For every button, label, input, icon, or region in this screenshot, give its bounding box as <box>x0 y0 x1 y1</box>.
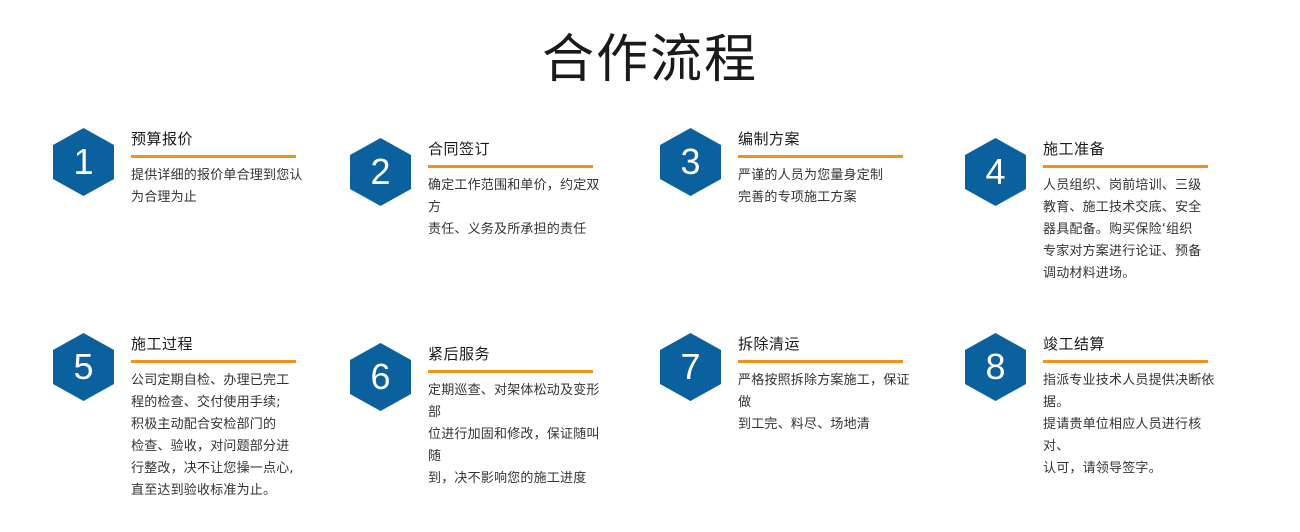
step-number-3: 3 <box>660 128 721 196</box>
step-title-8: 竣工结算 <box>1043 334 1220 356</box>
step-number-6: 6 <box>350 343 411 411</box>
step-card-3[interactable]: 3 编制方案 严谨的人员为您量身定制 完善的专项施工方案 <box>610 128 915 209</box>
step-divider-6 <box>428 370 593 373</box>
step-body-2: 合同签订 确定工作范围和单价，约定双方 责任、义务及所承担的责任 <box>428 138 610 241</box>
step-description-2: 确定工作范围和单价，约定双方 责任、义务及所承担的责任 <box>428 175 610 241</box>
step-body-8: 竣工结算 指派专业技术人员提供决断依据。 提请贵单位相应人员进行核对、 认可，请… <box>1043 333 1220 480</box>
steps-row-bottom: 5 施工过程 公司定期自检、办理已完工 程的检查、交付使用手续; 积极主动配合安… <box>0 333 1300 502</box>
step-description-6: 定期巡查、对架体松动及变形部 位进行加固和修改，保证随叫随 到，决不影响您的施工… <box>428 380 610 490</box>
process-steps-grid: 1 预算报价 提供详细的报价单合理到您认 为合理为止 2 合同签订 确定工作范围… <box>0 128 1300 502</box>
step-number-5: 5 <box>53 333 114 401</box>
step-card-2[interactable]: 2 合同签订 确定工作范围和单价，约定双方 责任、义务及所承担的责任 <box>305 138 610 241</box>
step-title-6: 紧后服务 <box>428 344 610 366</box>
step-title-4: 施工准备 <box>1043 139 1220 161</box>
step-number-4: 4 <box>965 138 1026 206</box>
step-title-2: 合同签订 <box>428 139 610 161</box>
step-body-3: 编制方案 严谨的人员为您量身定制 完善的专项施工方案 <box>738 128 915 209</box>
step-body-6: 紧后服务 定期巡查、对架体松动及变形部 位进行加固和修改，保证随叫随 到，决不影… <box>428 343 610 490</box>
hexagon-badge-6: 6 <box>350 343 411 411</box>
step-card-5[interactable]: 5 施工过程 公司定期自检、办理已完工 程的检查、交付使用手续; 积极主动配合安… <box>0 333 305 502</box>
step-description-5: 公司定期自检、办理已完工 程的检查、交付使用手续; 积极主动配合安检部门的 检查… <box>131 370 305 502</box>
step-divider-5 <box>131 360 296 363</box>
hexagon-badge-1: 1 <box>53 128 114 196</box>
step-description-3: 严谨的人员为您量身定制 完善的专项施工方案 <box>738 165 915 209</box>
step-description-4: 人员组织、岗前培训、三级 教育、施工技术交底、安全 器具配备。购买保险‘组织 专… <box>1043 175 1220 285</box>
step-title-7: 拆除清运 <box>738 334 915 356</box>
hexagon-badge-8: 8 <box>965 333 1026 401</box>
step-divider-8 <box>1043 360 1208 363</box>
step-title-3: 编制方案 <box>738 129 915 151</box>
step-body-1: 预算报价 提供详细的报价单合理到您认 为合理为止 <box>131 128 305 209</box>
hexagon-badge-7: 7 <box>660 333 721 401</box>
step-divider-7 <box>738 360 903 363</box>
step-divider-1 <box>131 155 296 158</box>
step-body-4: 施工准备 人员组织、岗前培训、三级 教育、施工技术交底、安全 器具配备。购买保险… <box>1043 138 1220 285</box>
step-divider-2 <box>428 165 593 168</box>
hexagon-badge-2: 2 <box>350 138 411 206</box>
step-number-1: 1 <box>53 128 114 196</box>
step-divider-3 <box>738 155 903 158</box>
step-card-4[interactable]: 4 施工准备 人员组织、岗前培训、三级 教育、施工技术交底、安全 器具配备。购买… <box>915 138 1220 285</box>
step-description-8: 指派专业技术人员提供决断依据。 提请贵单位相应人员进行核对、 认可，请领导签字。 <box>1043 370 1220 480</box>
step-card-8[interactable]: 8 竣工结算 指派专业技术人员提供决断依据。 提请贵单位相应人员进行核对、 认可… <box>915 333 1220 480</box>
step-divider-4 <box>1043 165 1208 168</box>
hexagon-badge-5: 5 <box>53 333 114 401</box>
step-body-7: 拆除清运 严格按照拆除方案施工，保证做 到工完、料尽、场地清 <box>738 333 915 436</box>
step-number-8: 8 <box>965 333 1026 401</box>
step-number-7: 7 <box>660 333 721 401</box>
step-card-6[interactable]: 6 紧后服务 定期巡查、对架体松动及变形部 位进行加固和修改，保证随叫随 到，决… <box>305 343 610 490</box>
steps-row-top: 1 预算报价 提供详细的报价单合理到您认 为合理为止 2 合同签订 确定工作范围… <box>0 128 1300 285</box>
step-body-5: 施工过程 公司定期自检、办理已完工 程的检查、交付使用手续; 积极主动配合安检部… <box>131 333 305 502</box>
step-title-5: 施工过程 <box>131 334 305 356</box>
step-card-1[interactable]: 1 预算报价 提供详细的报价单合理到您认 为合理为止 <box>0 128 305 209</box>
step-number-2: 2 <box>350 138 411 206</box>
hexagon-badge-4: 4 <box>965 138 1026 206</box>
hexagon-badge-3: 3 <box>660 128 721 196</box>
step-description-7: 严格按照拆除方案施工，保证做 到工完、料尽、场地清 <box>738 370 915 436</box>
page-title: 合作流程 <box>0 0 1300 93</box>
step-description-1: 提供详细的报价单合理到您认 为合理为止 <box>131 165 305 209</box>
step-card-7[interactable]: 7 拆除清运 严格按照拆除方案施工，保证做 到工完、料尽、场地清 <box>610 333 915 436</box>
step-title-1: 预算报价 <box>131 129 305 151</box>
